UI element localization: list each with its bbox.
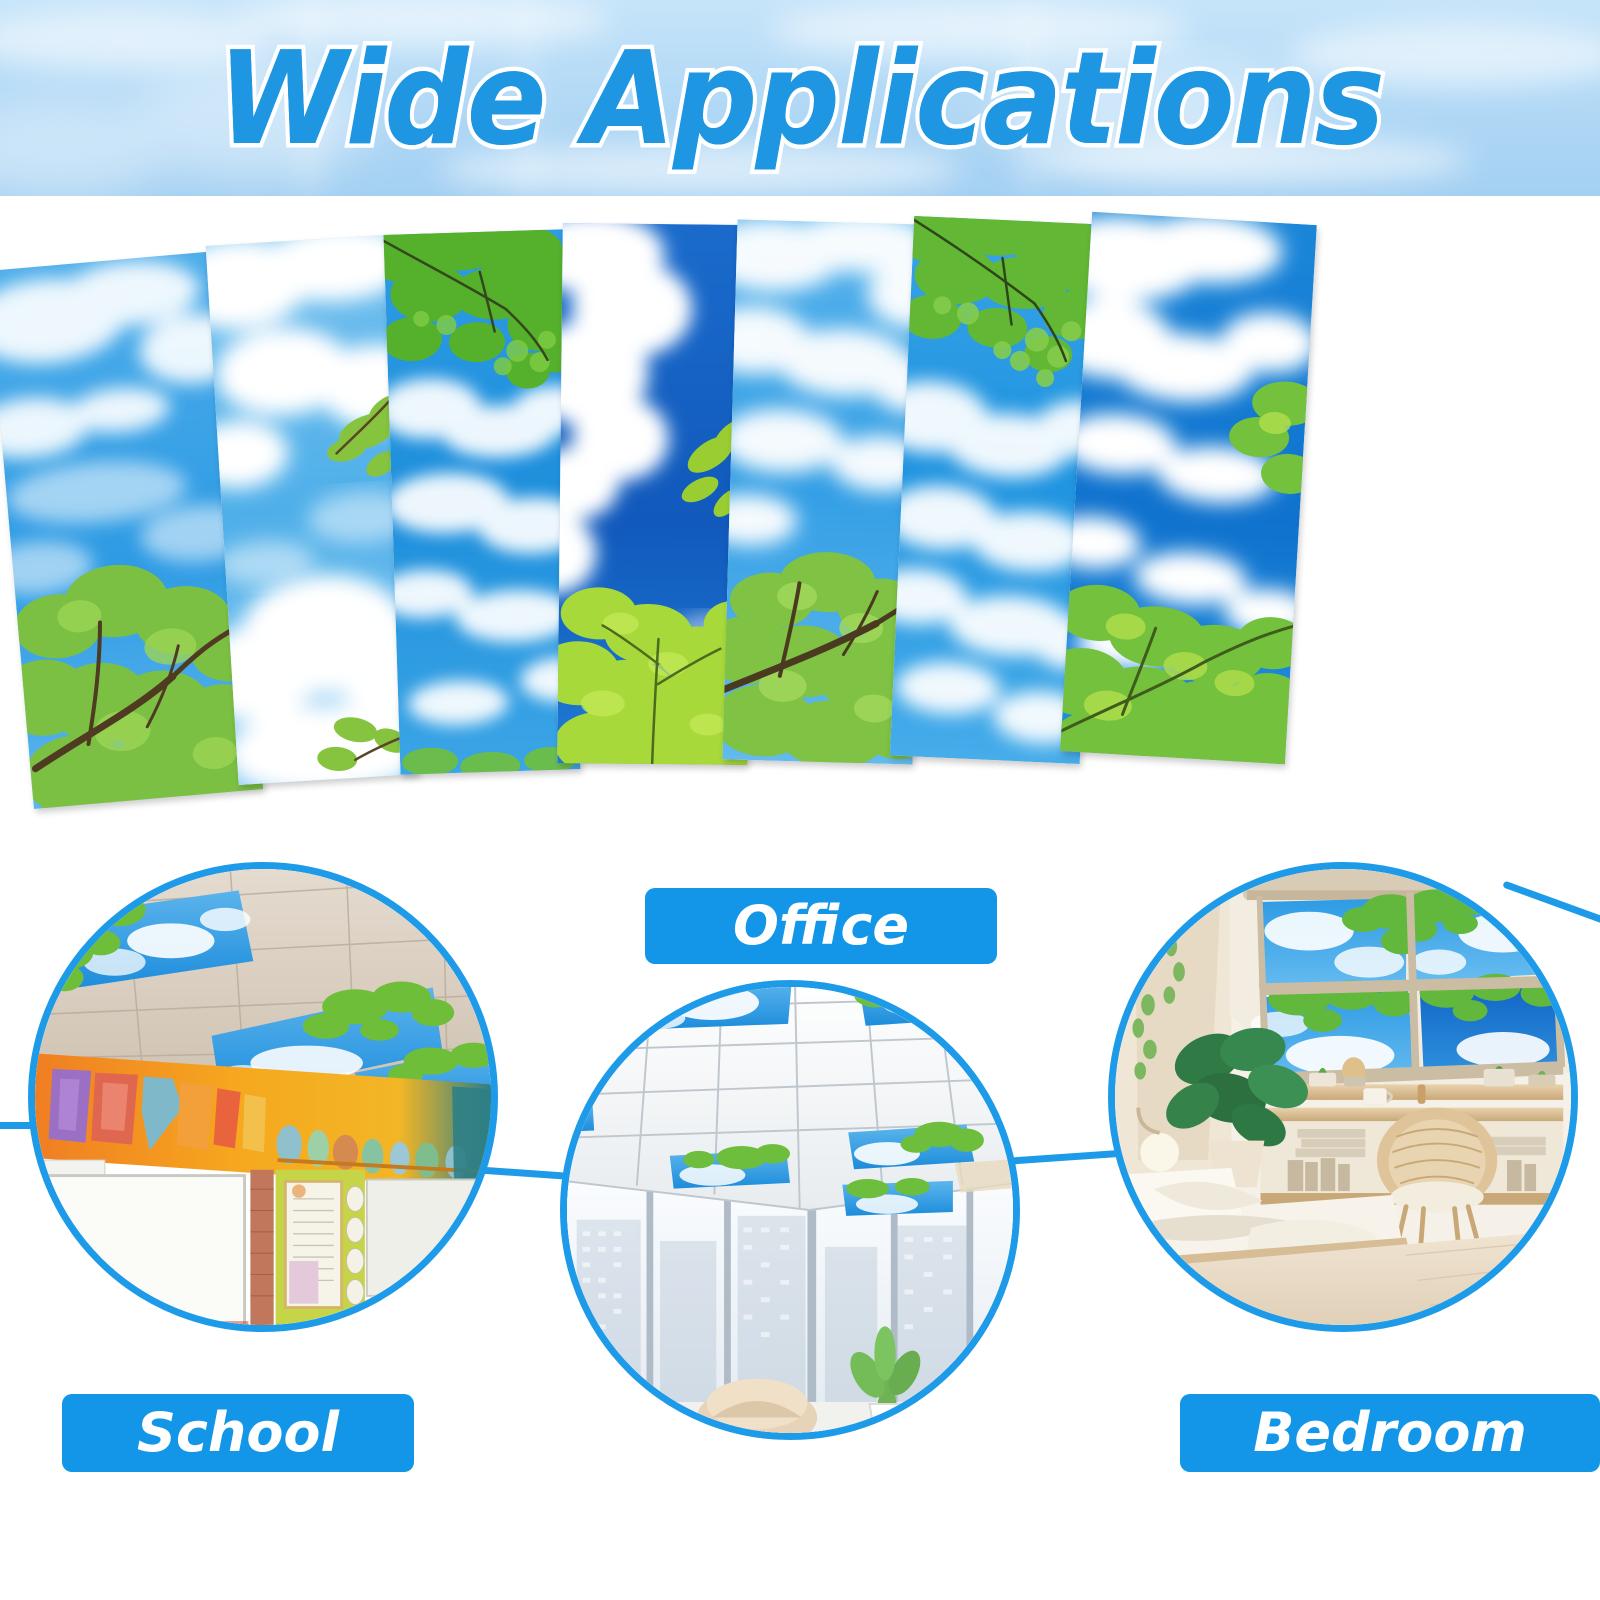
product-panel-fan xyxy=(0,200,1600,820)
product-panel[interactable] xyxy=(384,229,581,774)
badge-bedroom-label: Bedroom xyxy=(1253,1406,1527,1460)
scene-circle-school[interactable] xyxy=(28,862,498,1332)
applications-section: Office School Bedroom xyxy=(0,840,1600,1600)
scene-circle-office[interactable] xyxy=(560,980,1020,1440)
page-title-container: Wide Applications Wide Applications xyxy=(0,0,1600,196)
school-scene-illustration xyxy=(35,869,491,1325)
connector-right-edge xyxy=(1502,881,1600,927)
product-panel[interactable] xyxy=(1060,212,1317,764)
badge-school-label: School xyxy=(137,1406,339,1460)
bedroom-scene-illustration xyxy=(1115,869,1571,1325)
scene-circle-bedroom[interactable] xyxy=(1108,862,1578,1332)
badge-office[interactable]: Office xyxy=(645,888,997,964)
header-banner: Wide Applications Wide Applications xyxy=(0,0,1600,196)
badge-office-label: Office xyxy=(733,899,909,953)
page-title: Wide Applications xyxy=(217,36,1382,164)
badge-school[interactable]: School xyxy=(62,1394,414,1472)
badge-bedroom[interactable]: Bedroom xyxy=(1180,1394,1600,1472)
office-scene-illustration xyxy=(567,987,1013,1433)
product-panel[interactable] xyxy=(557,223,753,765)
